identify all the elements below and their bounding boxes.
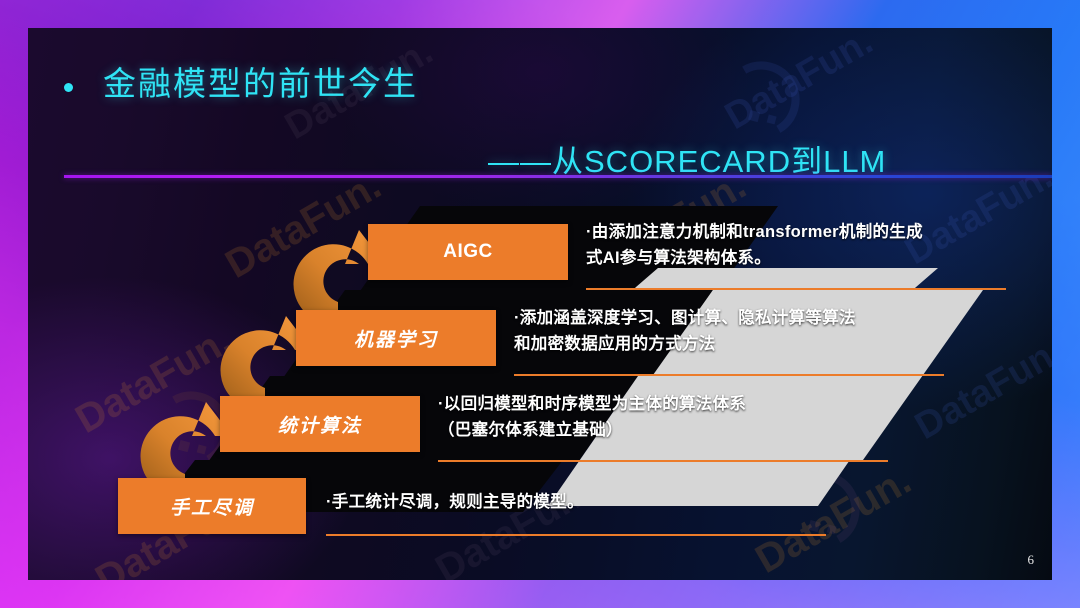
staircase-diagram: AIGC ·由添加注意力机制和transformer机制的生成 式AI参与算法架… [28, 28, 1052, 580]
step-row: 机器学习 ·添加涵盖深度学习、图计算、隐私计算等算法 和加密数据应用的方式方法 [296, 310, 936, 366]
step-underline [586, 288, 1006, 290]
step-label-text: 手工尽调 [170, 493, 254, 520]
step-underline [438, 460, 888, 462]
step-row: 手工尽调 ·手工统计尽调，规则主导的模型。 [118, 478, 758, 534]
step-description-text: 手工统计尽调，规则主导的模型。 [332, 493, 584, 511]
step-underline [514, 374, 944, 376]
step-label-badge[interactable]: 统计算法 [220, 396, 420, 452]
step-description-text: 以回归模型和时序模型为主体的算法体系 （巴塞尔体系建立基础） [438, 395, 746, 439]
step-description: ·手工统计尽调，规则主导的模型。 [326, 490, 786, 516]
step-row: AIGC ·由添加注意力机制和transformer机制的生成 式AI参与算法架… [368, 224, 988, 280]
step-row: 统计算法 ·以回归模型和时序模型为主体的算法体系 （巴塞尔体系建立基础） [220, 396, 860, 452]
step-description-text: 由添加注意力机制和transformer机制的生成 式AI参与算法架构体系。 [586, 223, 923, 267]
slide-root: DataFun. DataFun. DataFun. DataFun. Data… [0, 0, 1080, 608]
step-label-text: 统计算法 [278, 411, 362, 438]
step-description: ·添加涵盖深度学习、图计算、隐私计算等算法 和加密数据应用的方式方法 [514, 306, 944, 357]
slide-canvas: DataFun. DataFun. DataFun. DataFun. Data… [28, 28, 1052, 580]
page-number: 6 [1028, 552, 1035, 568]
step-label-text: AIGC [443, 241, 493, 263]
step-description: ·以回归模型和时序模型为主体的算法体系 （巴塞尔体系建立基础） [438, 392, 868, 443]
step-description-text: 添加涵盖深度学习、图计算、隐私计算等算法 和加密数据应用的方式方法 [514, 309, 856, 353]
step-label-text: 机器学习 [354, 325, 438, 352]
step-label-badge[interactable]: 机器学习 [296, 310, 496, 366]
step-underline [326, 534, 826, 536]
step-label-badge[interactable]: 手工尽调 [118, 478, 306, 534]
step-label-badge[interactable]: AIGC [368, 224, 568, 280]
step-description: ·由添加注意力机制和transformer机制的生成 式AI参与算法架构体系。 [586, 220, 1006, 271]
